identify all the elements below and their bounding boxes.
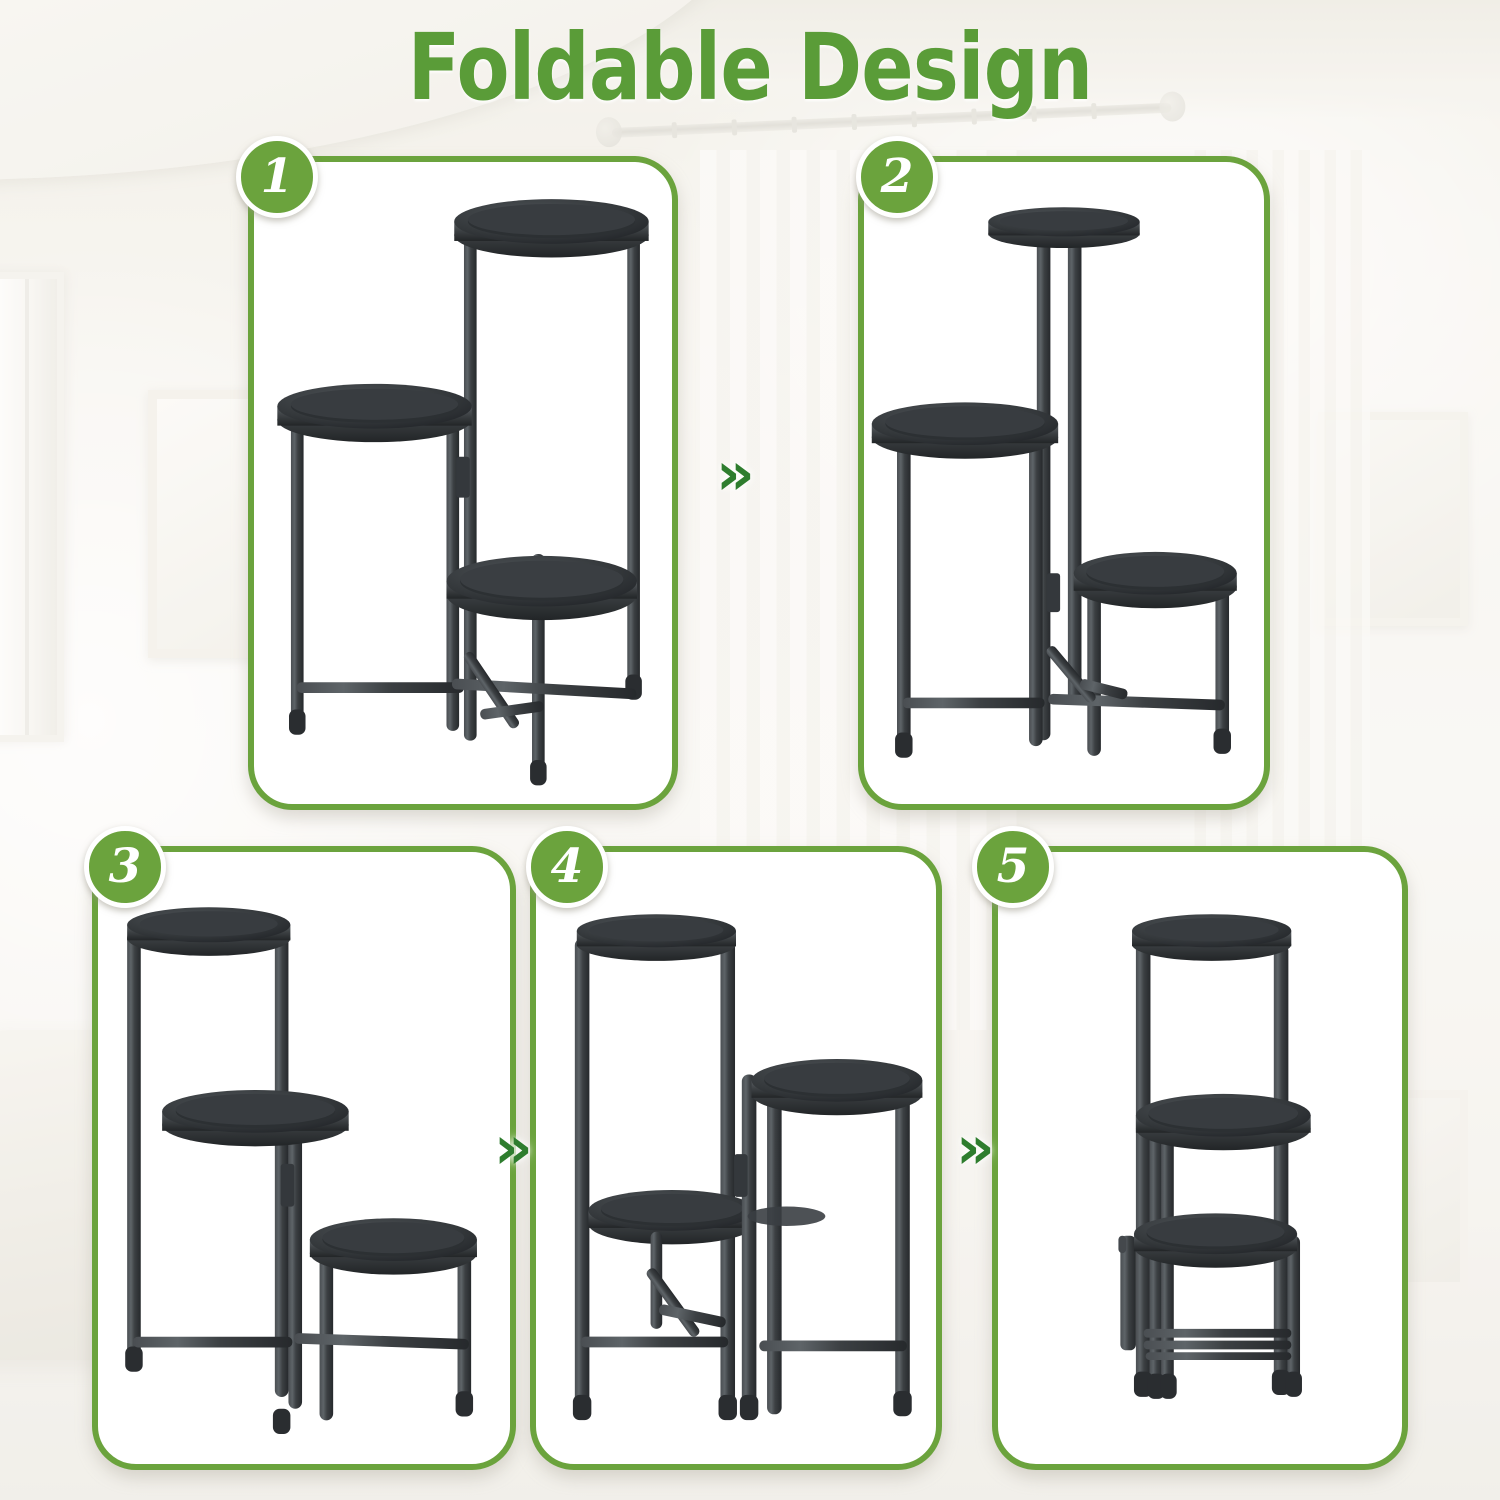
step-badge-3: 3 (84, 826, 166, 908)
plant-stand-illustration-step-4 (536, 852, 936, 1464)
step-badge-2: 2 (856, 136, 938, 218)
step-panel-1 (248, 156, 678, 810)
step-panel-3 (92, 846, 516, 1470)
plant-stand-illustration-step-1 (254, 162, 672, 804)
plant-stand-illustration-step-5 (998, 852, 1402, 1464)
step-badge-4: 4 (526, 826, 608, 908)
step-badge-1: 1 (236, 136, 318, 218)
plant-stand-illustration-step-3 (98, 852, 510, 1464)
arrow-step-1-to-2: » (716, 444, 745, 504)
arrow-step-3-to-4: » (494, 1118, 523, 1178)
plant-stand-illustration-step-2 (864, 162, 1264, 804)
page-title: Foldable Design (120, 14, 1380, 121)
step-panel-2 (858, 156, 1270, 810)
arrow-step-4-to-5: » (956, 1118, 985, 1178)
step-panel-5 (992, 846, 1408, 1470)
step-badge-5: 5 (972, 826, 1054, 908)
step-panel-4 (530, 846, 942, 1470)
